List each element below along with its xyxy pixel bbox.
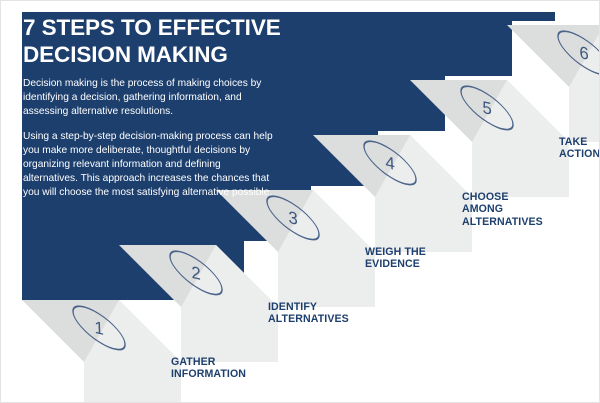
step-front-face: [181, 307, 278, 362]
step-label-5: CHOOSE AMONG ALTERNATIVES: [462, 191, 543, 228]
step-number-text: 1: [94, 317, 104, 339]
step-number-text: 2: [191, 262, 201, 284]
step-front-face: [375, 197, 472, 252]
intro-text-block: Decision making is the process of making…: [23, 77, 275, 200]
infographic-root: 7 STEPS TO EFFECTIVE DECISION MAKING Dec…: [0, 0, 600, 403]
title-line-2: DECISION MAKING: [23, 41, 313, 68]
step-label-6: TAKE ACTION: [559, 136, 600, 161]
title-line-1: 7 STEPS TO EFFECTIVE: [23, 14, 313, 41]
step-front-face: [84, 362, 181, 403]
step-number-text: 5: [482, 97, 492, 119]
intro-paragraph-2: Using a step-by-step decision-making pro…: [23, 130, 275, 200]
page-title: 7 STEPS TO EFFECTIVE DECISION MAKING: [23, 14, 313, 68]
step-number-text: 6: [579, 42, 589, 64]
step-front-face: [569, 87, 600, 142]
step-label-4: WEIGH THE EVIDENCE: [365, 246, 426, 271]
step-label-3: IDENTIFY ALTERNATIVES: [268, 301, 349, 326]
step-front-face: [472, 142, 569, 197]
step-label-2: GATHER INFORMATION: [171, 356, 246, 381]
step-block-6: 6: [507, 25, 600, 146]
step-number-text: 4: [385, 152, 395, 174]
intro-paragraph-1: Decision making is the process of making…: [23, 77, 275, 119]
step-front-face: [278, 252, 375, 307]
step-6[interactable]: 6: [507, 25, 600, 146]
step-number-text: 3: [288, 207, 298, 229]
